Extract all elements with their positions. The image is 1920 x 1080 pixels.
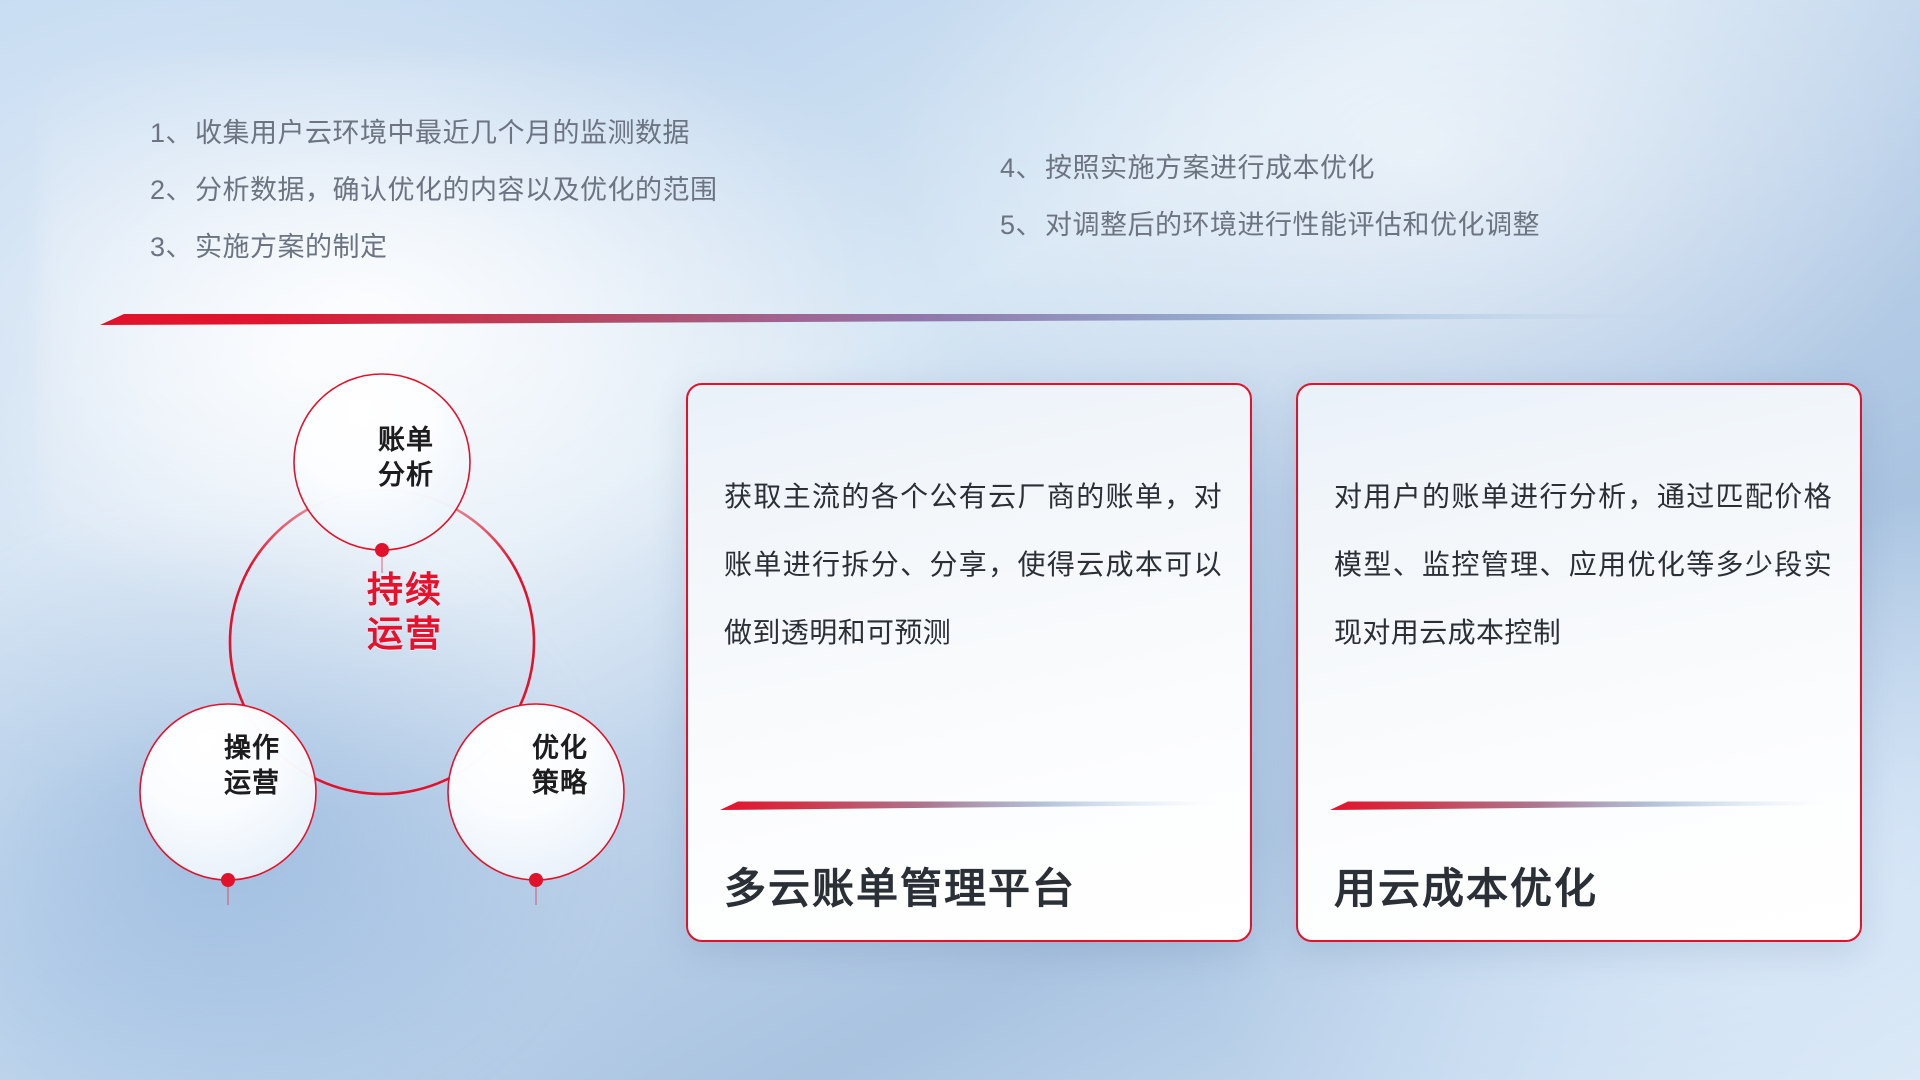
steps-left-column: 1、 收集用户云环境中最近几个月的监测数据 2、 分析数据，确认优化的内容以及优… <box>150 120 718 291</box>
list-item: 4、 按照实施方案进行成本优化 <box>1000 155 1540 182</box>
list-item: 3、 实施方案的制定 <box>150 234 718 261</box>
list-item-text: 对调整后的环境进行性能评估和优化调整 <box>1045 212 1540 239</box>
card-accent-rule <box>1330 800 1826 811</box>
card-accent-rule <box>720 800 1216 811</box>
bubble-label-line1: 账单 <box>341 423 471 458</box>
node-dot-bottom-left <box>221 873 235 887</box>
list-item-number: 2、 <box>150 177 193 204</box>
card-title: 多云账单管理平台 <box>724 855 1076 916</box>
bubble-label-billing-analysis: 账单 分析 <box>341 423 471 492</box>
list-item: 5、 对调整后的环境进行性能评估和优化调整 <box>1000 212 1540 239</box>
list-item: 1、 收集用户云环境中最近几个月的监测数据 <box>150 120 718 147</box>
bubble-label-optimization: 优化 策略 <box>495 731 625 800</box>
steps-right-column: 4、 按照实施方案进行成本优化 5、 对调整后的环境进行性能评估和优化调整 <box>1000 155 1540 269</box>
list-item-text: 分析数据，确认优化的内容以及优化的范围 <box>195 177 718 204</box>
list-item-text: 实施方案的制定 <box>195 234 388 261</box>
bubble-label-line2: 分析 <box>341 458 471 493</box>
list-item-text: 按照实施方案进行成本优化 <box>1045 155 1375 182</box>
card-body-text: 获取主流的各个公有云厂商的账单，对账单进行拆分、分享，使得云成本可以做到透明和可… <box>724 463 1222 666</box>
list-item-number: 1、 <box>150 120 193 147</box>
list-item-text: 收集用户云环境中最近几个月的监测数据 <box>195 120 690 147</box>
section-divider <box>100 312 1700 326</box>
continuous-operation-diagram: 账单 分析 操作 运营 优化 策略 持续 运营 <box>95 345 665 945</box>
feature-card-cloud-cost-optimization[interactable]: 对用户的账单进行分析，通过匹配价格模型、监控管理、应用优化等多少段实现对用云成本… <box>1296 383 1862 942</box>
diagram-center-label: 持续 运营 <box>310 568 500 656</box>
center-label-line2: 运营 <box>310 612 500 656</box>
bubble-label-line1: 操作 <box>187 731 317 766</box>
node-dot-top <box>375 543 389 557</box>
bubble-label-line2: 策略 <box>495 766 625 801</box>
card-title: 用云成本优化 <box>1334 855 1598 916</box>
bubble-label-line2: 运营 <box>187 766 317 801</box>
slide-canvas: 1、 收集用户云环境中最近几个月的监测数据 2、 分析数据，确认优化的内容以及优… <box>0 0 1920 1080</box>
bubble-label-operations: 操作 运营 <box>187 731 317 800</box>
node-dot-bottom-right <box>529 873 543 887</box>
list-item-number: 3、 <box>150 234 193 261</box>
card-body-text: 对用户的账单进行分析，通过匹配价格模型、监控管理、应用优化等多少段实现对用云成本… <box>1334 463 1832 666</box>
feature-card-multicloud-billing-platform[interactable]: 获取主流的各个公有云厂商的账单，对账单进行拆分、分享，使得云成本可以做到透明和可… <box>686 383 1252 942</box>
list-item: 2、 分析数据，确认优化的内容以及优化的范围 <box>150 177 718 204</box>
list-item-number: 4、 <box>1000 155 1043 182</box>
bubble-label-line1: 优化 <box>495 731 625 766</box>
list-item-number: 5、 <box>1000 212 1043 239</box>
center-label-line1: 持续 <box>310 568 500 612</box>
